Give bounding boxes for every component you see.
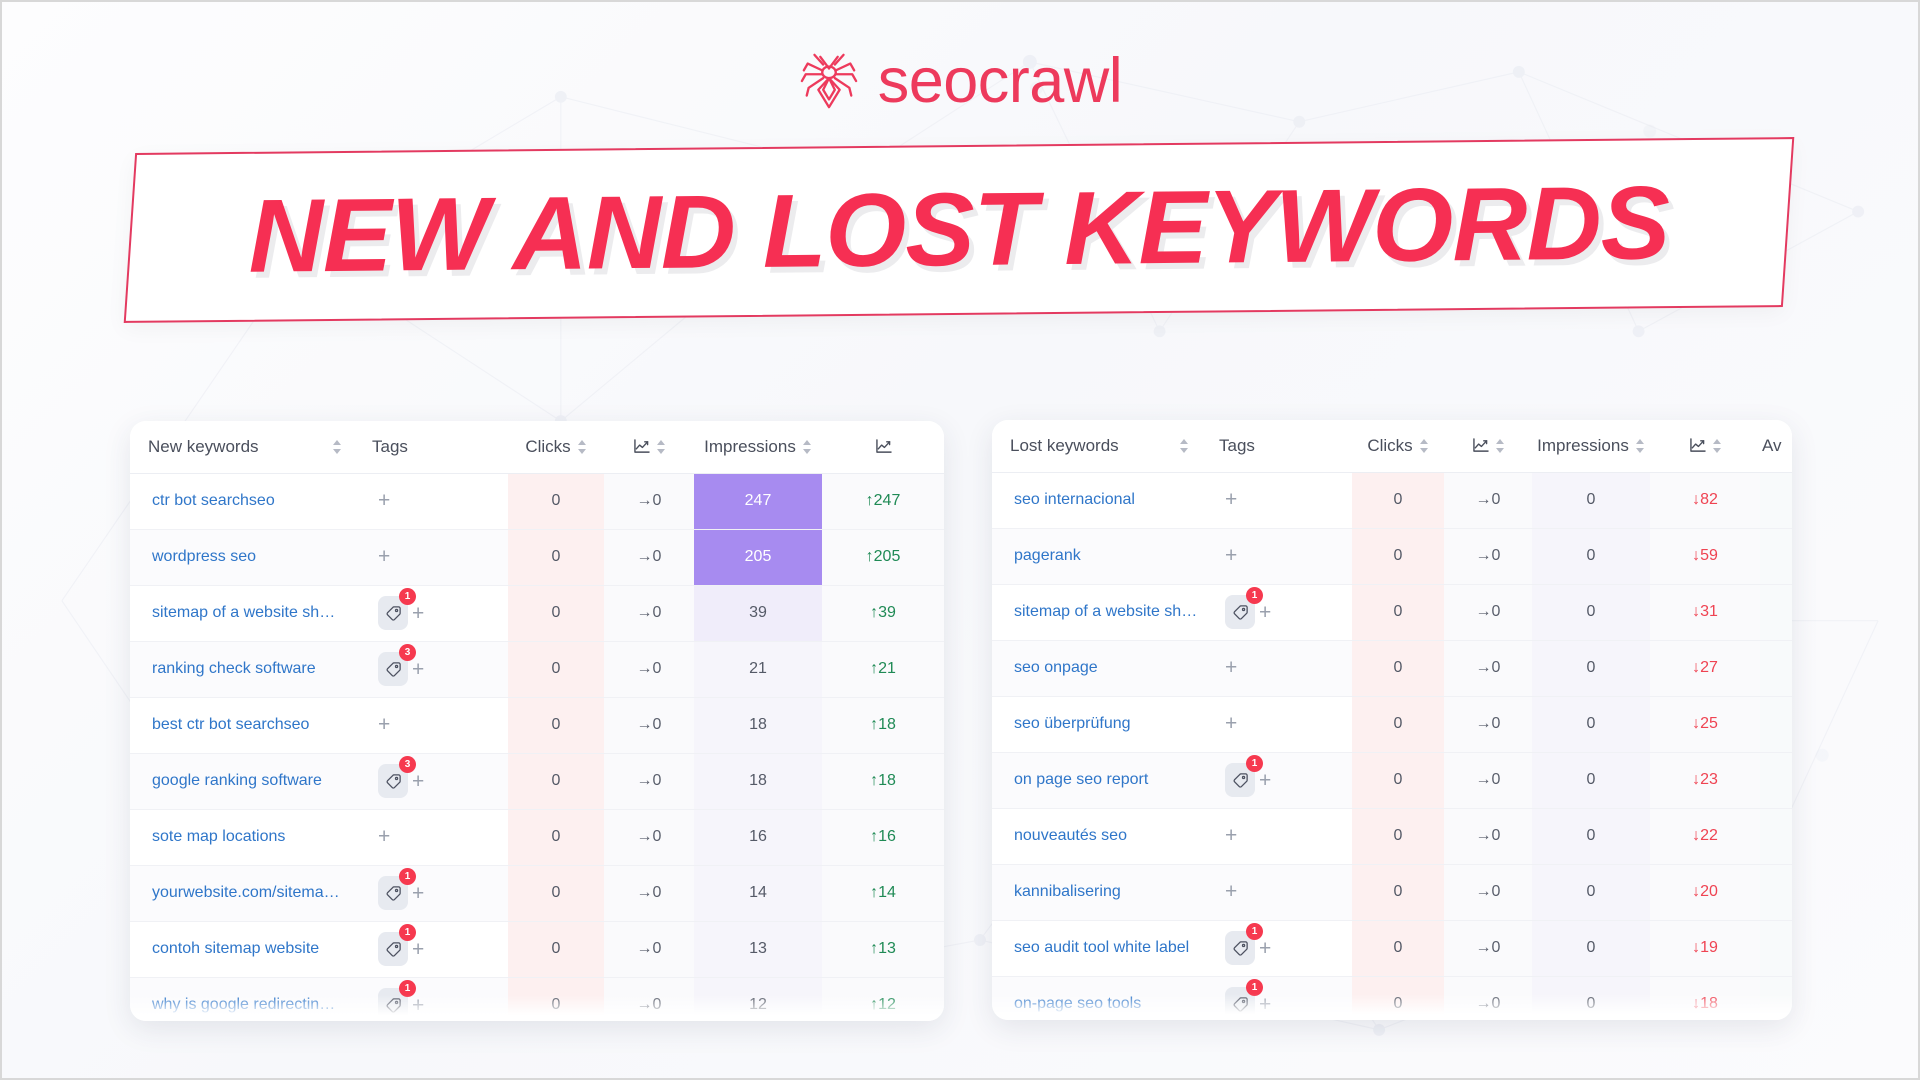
impressions-value: 0 — [1532, 808, 1650, 864]
sort-icon[interactable] — [1420, 438, 1429, 454]
tag-control-group: + — [1225, 881, 1237, 902]
impressions-value: 12 — [694, 977, 822, 1021]
clicks-trend-value: →0 — [604, 977, 694, 1021]
clicks-value: 0 — [508, 529, 604, 585]
tags-cell: 1+ — [1207, 752, 1352, 808]
impressions-value: 39 — [694, 585, 822, 641]
clicks-value: 0 — [1352, 976, 1444, 1020]
impressions-value: 13 — [694, 921, 822, 977]
table-row: on page seo report1+0→00↓23 — [992, 752, 1792, 808]
keyword-link[interactable]: seo internacional — [992, 472, 1207, 528]
keyword-link[interactable]: pagerank — [992, 528, 1207, 584]
tags-cell: + — [1207, 528, 1352, 584]
keyword-link[interactable]: on page seo report — [992, 752, 1207, 808]
tag-count-badge: 1 — [1246, 979, 1263, 996]
clicks-value: 0 — [508, 473, 604, 529]
keyword-link[interactable]: why is google redirectin… — [130, 977, 360, 1021]
clicks-trend-value: →0 — [1444, 472, 1532, 528]
clicks-trend-value: →0 — [1444, 808, 1532, 864]
brand-name: seocrawl — [878, 50, 1123, 113]
tag-control-group: + — [1225, 545, 1237, 566]
line-chart-icon — [1689, 438, 1706, 453]
clicks-trend-value: →0 — [604, 585, 694, 641]
table-header-row: New keywords Tags Clicks — [130, 421, 944, 473]
new-keywords-card: New keywords Tags Clicks — [130, 421, 944, 1021]
impressions-value: 205 — [694, 529, 822, 585]
impressions-value: 16 — [694, 809, 822, 865]
impressions-trend-value: ↑21 — [822, 641, 944, 697]
keyword-link[interactable]: ranking check software — [130, 641, 360, 697]
col-label-clicks: Clicks — [1367, 436, 1412, 456]
sort-icon[interactable] — [1636, 438, 1645, 454]
clicks-value: 0 — [1352, 752, 1444, 808]
tags-cell: 3+ — [360, 641, 508, 697]
add-tag-button[interactable]: + — [1225, 545, 1237, 566]
add-tag-button[interactable]: + — [1225, 825, 1237, 846]
keyword-link[interactable]: sitemap of a website sh… — [992, 584, 1207, 640]
col-header-impressions-trend[interactable] — [1650, 420, 1760, 472]
tag-control-group: 1+ — [378, 596, 424, 630]
keyword-link[interactable]: yourwebsite.com/sitema… — [130, 865, 360, 921]
sort-icon[interactable] — [1496, 438, 1505, 454]
tag-count-badge: 1 — [1246, 923, 1263, 940]
clicks-value: 0 — [508, 809, 604, 865]
col-label-impressions: Impressions — [1537, 436, 1629, 456]
tags-cell: + — [1207, 864, 1352, 920]
table-row: kannibalisering+0→00↓20 — [992, 864, 1792, 920]
clicks-trend-value: →0 — [1444, 528, 1532, 584]
tag-control-group: 3+ — [378, 764, 424, 798]
add-tag-button[interactable]: + — [378, 490, 390, 511]
sort-icon[interactable] — [578, 439, 587, 455]
table-row: nouveautés seo+0→00↓22 — [992, 808, 1792, 864]
impressions-value: 18 — [694, 753, 822, 809]
add-tag-button[interactable]: + — [1225, 713, 1237, 734]
lost-keywords-table: Lost keywords Tags Clicks — [992, 420, 1792, 1020]
clicks-value: 0 — [1352, 864, 1444, 920]
table-row: pagerank+0→00↓59 — [992, 528, 1792, 584]
table-row: seo überprüfung+0→00↓25 — [992, 696, 1792, 752]
impressions-value: 0 — [1532, 584, 1650, 640]
col-header-clicks-trend[interactable] — [1444, 420, 1532, 472]
tag-icon — [385, 661, 402, 678]
col-header-avg-position[interactable]: Av — [1760, 420, 1792, 472]
tag-chip[interactable]: 1 — [1225, 763, 1255, 797]
keyword-link[interactable]: sote map locations — [130, 809, 360, 865]
tags-cell: 1+ — [360, 585, 508, 641]
impressions-value: 0 — [1532, 864, 1650, 920]
col-label-clicks: Clicks — [525, 437, 570, 457]
add-tag-button[interactable]: + — [378, 826, 390, 847]
clicks-value: 0 — [1352, 696, 1444, 752]
clicks-trend-value: →0 — [1444, 864, 1532, 920]
keyword-link[interactable]: sitemap of a website sh… — [130, 585, 360, 641]
tag-count-badge: 1 — [399, 924, 416, 941]
add-tag-button[interactable]: + — [412, 939, 424, 960]
col-header-clicks[interactable]: Clicks — [1352, 420, 1444, 472]
table-row: ranking check software3+0→021↑21 — [130, 641, 944, 697]
add-tag-button[interactable]: + — [1259, 602, 1271, 623]
tag-control-group: 1+ — [378, 932, 424, 966]
table-header-row: Lost keywords Tags Clicks — [992, 420, 1792, 472]
keyword-link[interactable]: best ctr bot searchseo — [130, 697, 360, 753]
impressions-trend-value: ↓31 — [1650, 584, 1760, 640]
page-frame: seocrawl NEW AND LOST KEYWORDS New keywo… — [0, 0, 1920, 1080]
avg-position-value — [1760, 696, 1792, 752]
avg-position-value — [1760, 920, 1792, 976]
sort-icon[interactable] — [1713, 438, 1722, 454]
impressions-value: 247 — [694, 473, 822, 529]
headline-banner: NEW AND LOST KEYWORDS — [124, 137, 1795, 323]
brand-logo: seocrawl — [2, 50, 1918, 113]
tag-control-group: + — [378, 826, 390, 847]
tag-control-group: 1+ — [378, 876, 424, 910]
tag-count-badge: 3 — [399, 644, 416, 661]
clicks-value: 0 — [1352, 640, 1444, 696]
add-tag-button[interactable]: + — [412, 603, 424, 624]
impressions-trend-value: ↓59 — [1650, 528, 1760, 584]
sort-icon[interactable] — [803, 439, 812, 455]
impressions-value: 18 — [694, 697, 822, 753]
tags-cell: 1+ — [1207, 976, 1352, 1020]
impressions-value: 14 — [694, 865, 822, 921]
tag-count-badge: 1 — [1246, 755, 1263, 772]
table-row: contoh sitemap website1+0→013↑13 — [130, 921, 944, 977]
clicks-trend-value: →0 — [1444, 696, 1532, 752]
col-header-new-keywords[interactable]: New keywords — [130, 421, 360, 473]
keyword-link[interactable]: ctr bot searchseo — [130, 473, 360, 529]
line-chart-icon — [875, 439, 892, 454]
impressions-trend-value: ↑14 — [822, 865, 944, 921]
tags-cell: + — [360, 529, 508, 585]
impressions-trend-value: ↑247 — [822, 473, 944, 529]
clicks-trend-value: →0 — [1444, 920, 1532, 976]
col-header-clicks-trend[interactable] — [604, 421, 694, 473]
impressions-trend-value: ↑12 — [822, 977, 944, 1021]
tag-chip[interactable]: 1 — [1225, 595, 1255, 629]
tag-icon — [1232, 996, 1249, 1013]
col-header-impressions-trend[interactable] — [822, 421, 944, 473]
col-label-tags: Tags — [372, 437, 408, 457]
add-tag-button[interactable]: + — [412, 659, 424, 680]
clicks-trend-value: →0 — [1444, 976, 1532, 1020]
avg-position-value — [1760, 528, 1792, 584]
col-label-lost-keywords: Lost keywords — [1010, 436, 1119, 456]
add-tag-button[interactable]: + — [1225, 657, 1237, 678]
table-row: sitemap of a website sh…1+0→039↑39 — [130, 585, 944, 641]
tag-control-group: + — [1225, 825, 1237, 846]
impressions-trend-value: ↓23 — [1650, 752, 1760, 808]
spider-icon — [798, 51, 860, 113]
col-label-new-keywords: New keywords — [148, 437, 259, 457]
col-header-impressions[interactable]: Impressions — [694, 421, 822, 473]
new-keywords-table: New keywords Tags Clicks — [130, 421, 944, 1021]
clicks-value: 0 — [508, 977, 604, 1021]
line-chart-icon — [633, 439, 650, 454]
impressions-value: 21 — [694, 641, 822, 697]
keyword-link[interactable]: kannibalisering — [992, 864, 1207, 920]
tag-chip[interactable]: 1 — [378, 932, 408, 966]
impressions-trend-value: ↑205 — [822, 529, 944, 585]
clicks-trend-value: →0 — [1444, 752, 1532, 808]
tag-icon — [385, 941, 402, 958]
lost-keywords-card: Lost keywords Tags Clicks — [992, 420, 1792, 1020]
impressions-trend-value: ↑16 — [822, 809, 944, 865]
impressions-trend-value: ↓27 — [1650, 640, 1760, 696]
add-tag-button[interactable]: + — [412, 995, 424, 1016]
tag-control-group: + — [1225, 713, 1237, 734]
tag-control-group: 3+ — [378, 652, 424, 686]
tag-control-group: 1+ — [1225, 987, 1271, 1020]
sort-icon[interactable] — [333, 439, 342, 455]
add-tag-button[interactable]: + — [1259, 994, 1271, 1015]
table-row: seo onpage+0→00↓27 — [992, 640, 1792, 696]
tag-icon — [385, 885, 402, 902]
tag-control-group: 1+ — [1225, 763, 1271, 797]
tags-cell: 1+ — [1207, 920, 1352, 976]
impressions-value: 0 — [1532, 696, 1650, 752]
impressions-value: 0 — [1532, 528, 1650, 584]
sort-icon[interactable] — [657, 439, 666, 455]
impressions-trend-value: ↓20 — [1650, 864, 1760, 920]
tags-cell: + — [1207, 472, 1352, 528]
tag-count-badge: 1 — [399, 588, 416, 605]
col-header-impressions[interactable]: Impressions — [1532, 420, 1650, 472]
col-header-tags: Tags — [360, 421, 508, 473]
tag-chip[interactable]: 1 — [378, 876, 408, 910]
impressions-trend-value: ↓82 — [1650, 472, 1760, 528]
clicks-value: 0 — [508, 921, 604, 977]
keyword-link[interactable]: contoh sitemap website — [130, 921, 360, 977]
clicks-trend-value: →0 — [604, 697, 694, 753]
tags-cell: 1+ — [360, 865, 508, 921]
tag-control-group: 1+ — [378, 988, 424, 1021]
avg-position-value — [1760, 472, 1792, 528]
impressions-trend-value: ↑39 — [822, 585, 944, 641]
table-row: why is google redirectin…1+0→012↑12 — [130, 977, 944, 1021]
impressions-trend-value: ↓22 — [1650, 808, 1760, 864]
table-row: yourwebsite.com/sitema…1+0→014↑14 — [130, 865, 944, 921]
clicks-value: 0 — [508, 753, 604, 809]
tags-cell: 1+ — [360, 921, 508, 977]
clicks-trend-value: →0 — [604, 809, 694, 865]
col-label-impressions: Impressions — [704, 437, 796, 457]
clicks-trend-value: →0 — [604, 529, 694, 585]
impressions-trend-value: ↓25 — [1650, 696, 1760, 752]
table-row: on-page seo tools1+0→00↓18 — [992, 976, 1792, 1020]
add-tag-button[interactable]: + — [1259, 770, 1271, 791]
clicks-value: 0 — [1352, 528, 1444, 584]
tag-chip[interactable]: 1 — [378, 596, 408, 630]
impressions-trend-value: ↓19 — [1650, 920, 1760, 976]
clicks-value: 0 — [508, 697, 604, 753]
impressions-trend-value: ↑18 — [822, 753, 944, 809]
impressions-trend-value: ↓18 — [1650, 976, 1760, 1020]
clicks-value: 0 — [508, 865, 604, 921]
clicks-value: 0 — [508, 641, 604, 697]
tag-control-group: + — [1225, 489, 1237, 510]
clicks-trend-value: →0 — [604, 473, 694, 529]
avg-position-value — [1760, 584, 1792, 640]
keyword-link[interactable]: seo audit tool white label — [992, 920, 1207, 976]
impressions-value: 0 — [1532, 472, 1650, 528]
avg-position-value — [1760, 640, 1792, 696]
tag-count-badge: 1 — [1246, 587, 1263, 604]
clicks-trend-value: →0 — [1444, 584, 1532, 640]
clicks-trend-value: →0 — [604, 865, 694, 921]
keyword-link[interactable]: seo überprüfung — [992, 696, 1207, 752]
table-row: wordpress seo+0→0205↑205 — [130, 529, 944, 585]
impressions-trend-value: ↑13 — [822, 921, 944, 977]
clicks-trend-value: →0 — [604, 753, 694, 809]
impressions-value: 0 — [1532, 752, 1650, 808]
tag-chip[interactable]: 1 — [1225, 931, 1255, 965]
tag-count-badge: 1 — [399, 868, 416, 885]
line-chart-icon — [1472, 438, 1489, 453]
add-tag-button[interactable]: + — [378, 546, 390, 567]
tags-cell: 3+ — [360, 753, 508, 809]
tags-cell: + — [1207, 640, 1352, 696]
tag-chip[interactable]: 1 — [378, 988, 408, 1021]
avg-position-value — [1760, 976, 1792, 1020]
impressions-value: 0 — [1532, 976, 1650, 1020]
avg-position-value — [1760, 864, 1792, 920]
headline-text: NEW AND LOST KEYWORDS — [248, 164, 1670, 297]
avg-position-value — [1760, 808, 1792, 864]
keyword-link[interactable]: seo onpage — [992, 640, 1207, 696]
tag-control-group: + — [378, 546, 390, 567]
tag-chip[interactable]: 3 — [378, 764, 408, 798]
table-row: google ranking software3+0→018↑18 — [130, 753, 944, 809]
table-row: sitemap of a website sh…1+0→00↓31 — [992, 584, 1792, 640]
tags-cell: 1+ — [1207, 584, 1352, 640]
keyword-link[interactable]: on-page seo tools — [992, 976, 1207, 1020]
tag-icon — [1232, 604, 1249, 621]
tag-chip[interactable]: 3 — [378, 652, 408, 686]
clicks-value: 0 — [508, 585, 604, 641]
clicks-trend-value: →0 — [1444, 640, 1532, 696]
tag-icon — [385, 773, 402, 790]
clicks-trend-value: →0 — [604, 641, 694, 697]
impressions-trend-value: ↑18 — [822, 697, 944, 753]
tags-cell: 1+ — [360, 977, 508, 1021]
add-tag-button[interactable]: + — [1225, 489, 1237, 510]
table-row: seo audit tool white label1+0→00↓19 — [992, 920, 1792, 976]
tag-icon — [1232, 940, 1249, 957]
col-label-tags: Tags — [1219, 436, 1255, 456]
table-row: seo internacional+0→00↓82 — [992, 472, 1792, 528]
tags-cell: + — [360, 697, 508, 753]
col-header-tags: Tags — [1207, 420, 1352, 472]
col-header-clicks[interactable]: Clicks — [508, 421, 604, 473]
col-label-avg-position: Av — [1762, 436, 1782, 456]
clicks-value: 0 — [1352, 472, 1444, 528]
impressions-value: 0 — [1532, 640, 1650, 696]
add-tag-button[interactable]: + — [1225, 881, 1237, 902]
tag-control-group: + — [378, 490, 390, 511]
clicks-trend-value: →0 — [604, 921, 694, 977]
tag-control-group: 1+ — [1225, 931, 1271, 965]
tag-count-badge: 1 — [399, 980, 416, 997]
keyword-link[interactable]: nouveautés seo — [992, 808, 1207, 864]
table-row: best ctr bot searchseo+0→018↑18 — [130, 697, 944, 753]
clicks-value: 0 — [1352, 920, 1444, 976]
add-tag-button[interactable]: + — [378, 714, 390, 735]
keyword-link[interactable]: wordpress seo — [130, 529, 360, 585]
tag-icon — [385, 997, 402, 1014]
tag-icon — [1232, 772, 1249, 789]
tags-cell: + — [1207, 696, 1352, 752]
clicks-value: 0 — [1352, 808, 1444, 864]
clicks-value: 0 — [1352, 584, 1444, 640]
tags-cell: + — [1207, 808, 1352, 864]
add-tag-button[interactable]: + — [412, 771, 424, 792]
tag-count-badge: 3 — [399, 756, 416, 773]
tags-cell: + — [360, 473, 508, 529]
add-tag-button[interactable]: + — [1259, 938, 1271, 959]
tag-icon — [385, 605, 402, 622]
tag-control-group: 1+ — [1225, 595, 1271, 629]
impressions-value: 0 — [1532, 920, 1650, 976]
table-row: ctr bot searchseo+0→0247↑247 — [130, 473, 944, 529]
avg-position-value — [1760, 752, 1792, 808]
tag-control-group: + — [1225, 657, 1237, 678]
tag-control-group: + — [378, 714, 390, 735]
col-header-lost-keywords[interactable]: Lost keywords — [992, 420, 1207, 472]
table-row: sote map locations+0→016↑16 — [130, 809, 944, 865]
keyword-link[interactable]: google ranking software — [130, 753, 360, 809]
tags-cell: + — [360, 809, 508, 865]
add-tag-button[interactable]: + — [412, 883, 424, 904]
sort-icon[interactable] — [1180, 438, 1189, 454]
tag-chip[interactable]: 1 — [1225, 987, 1255, 1020]
